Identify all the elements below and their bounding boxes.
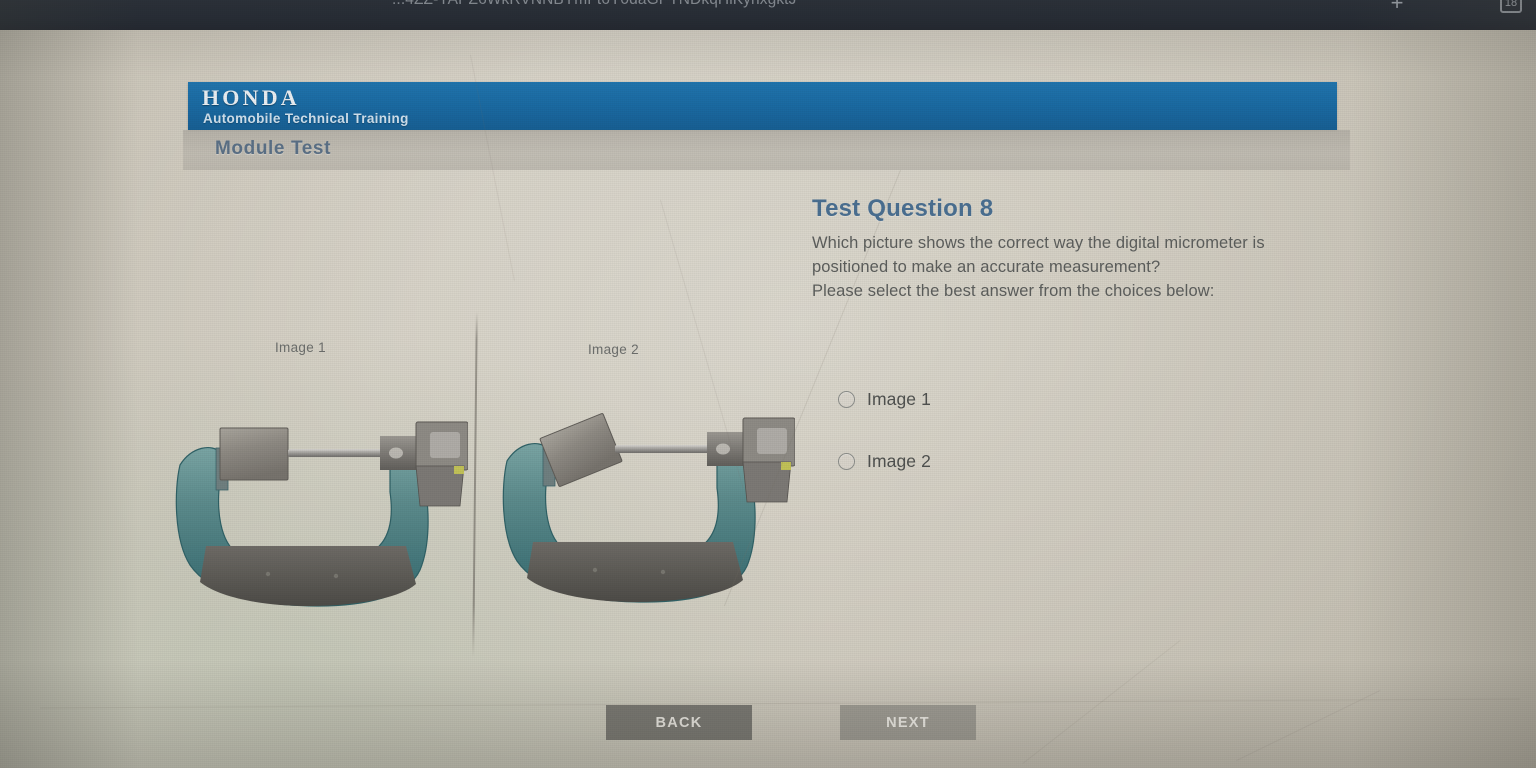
- choice-label-image-2: Image 2: [867, 451, 931, 472]
- question-text-line-2: positioned to make an accurate measureme…: [812, 255, 1372, 279]
- next-button[interactable]: NEXT: [840, 705, 976, 740]
- honda-subtitle: Automobile Technical Training: [203, 111, 409, 126]
- micrometer-base-pad: [527, 542, 743, 602]
- question-title: Test Question 8: [812, 195, 1372, 223]
- yellow-marker: [454, 466, 464, 474]
- yellow-marker: [781, 462, 791, 470]
- honda-brand-header: HONDA Automobile Technical Training: [188, 82, 1337, 130]
- answer-choices: Image 1 Image 2: [838, 385, 1238, 509]
- image-divider: [472, 312, 477, 657]
- digital-display: [430, 432, 460, 458]
- course-page: HONDA Automobile Technical Training Modu…: [0, 30, 1536, 768]
- micrometer-image-2[interactable]: [495, 366, 795, 626]
- image-1-caption: Image 1: [275, 340, 326, 355]
- choice-image-1[interactable]: Image 1: [838, 385, 1238, 413]
- module-test-label: Module Test: [215, 138, 331, 160]
- choice-label-image-1: Image 1: [867, 389, 931, 410]
- browser-toolbar: ...4ZZ-YAPZ6WkRVNNBYmFt6Y0daGPTNDkqHiKyh…: [0, 0, 1536, 30]
- question-text-line-3: Please select the best answer from the c…: [812, 279, 1372, 303]
- plus-icon[interactable]: +: [1386, 0, 1408, 14]
- back-button[interactable]: BACK: [606, 705, 752, 740]
- question-block: Test Question 8 Which picture shows the …: [812, 195, 1372, 303]
- micrometer-base-pad: [200, 546, 416, 606]
- digital-display: [757, 428, 787, 454]
- module-test-band: Module Test: [183, 130, 1350, 170]
- tab-count-badge[interactable]: 18: [1500, 0, 1522, 13]
- address-bar-text[interactable]: ...4ZZ-YAPZ6WkRVNNBYmFt6Y0daGPTNDkqHiKyh…: [392, 0, 1332, 13]
- measured-block-flat: [220, 428, 288, 480]
- micrometer-spindle: [615, 445, 711, 453]
- micrometer-spindle: [288, 449, 384, 457]
- micrometer-image-1[interactable]: [168, 370, 468, 630]
- radio-button-image-2[interactable]: [838, 453, 855, 470]
- honda-logo: HONDA: [202, 85, 300, 111]
- photographed-screen: ...4ZZ-YAPZ6WkRVNNBYmFt6Y0daGPTNDkqHiKyh…: [0, 0, 1536, 768]
- question-text-line-1: Which picture shows the correct way the …: [812, 231, 1372, 255]
- image-2-caption: Image 2: [588, 342, 639, 357]
- radio-button-image-1[interactable]: [838, 391, 855, 408]
- answer-images: Image 1 Image 2: [150, 300, 830, 660]
- bottom-navigation: BACK NEXT: [0, 702, 1536, 762]
- choice-image-2[interactable]: Image 2: [838, 447, 1238, 475]
